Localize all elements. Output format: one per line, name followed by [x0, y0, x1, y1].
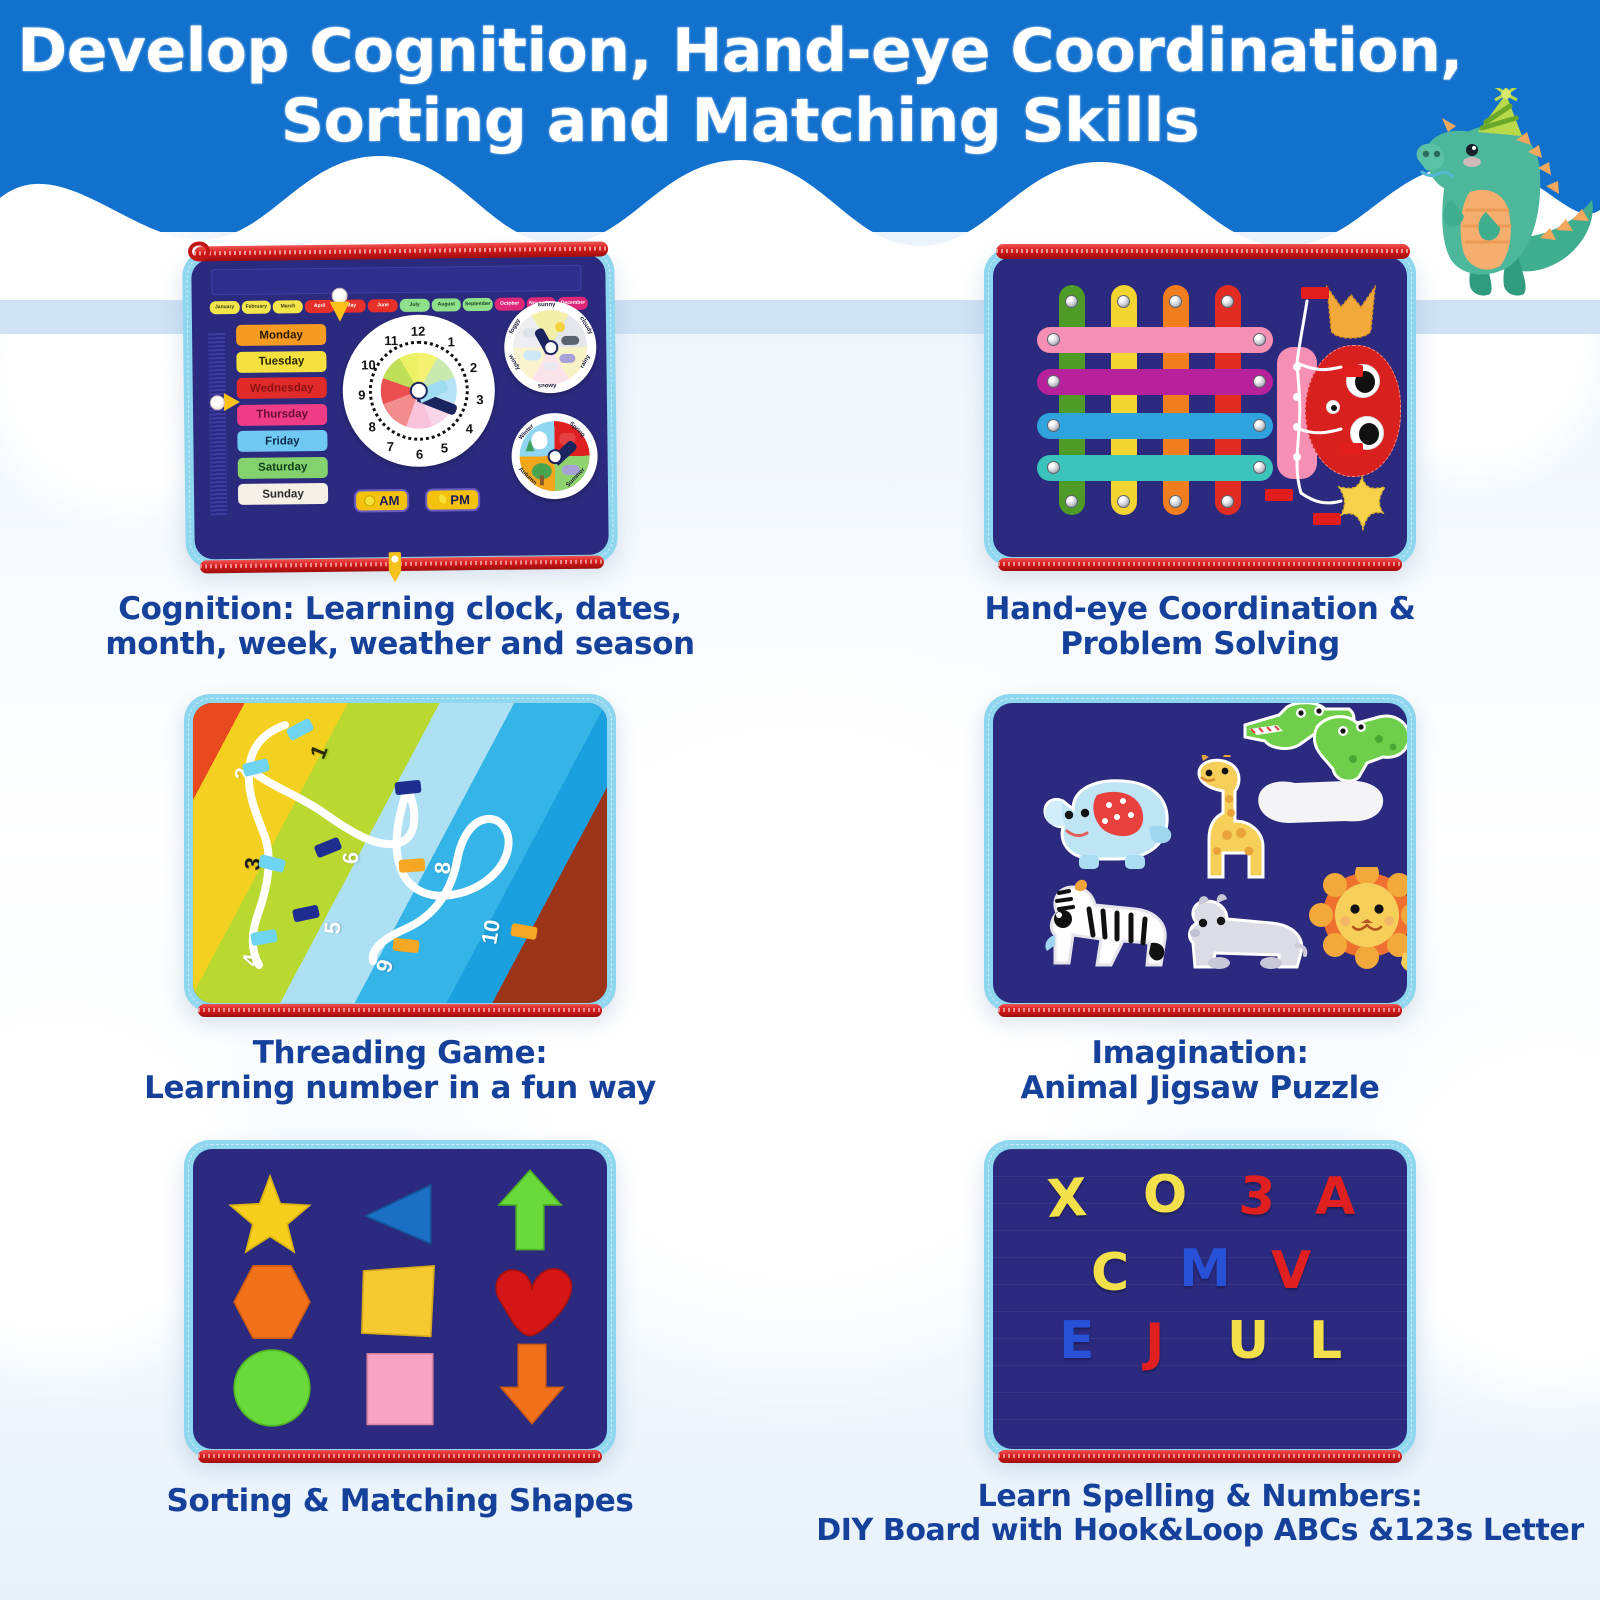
- horizontal-strap-blue[interactable]: [1037, 413, 1273, 439]
- shape-square[interactable]: [353, 1259, 443, 1345]
- board-surface: [993, 257, 1407, 557]
- letter-tile-o[interactable]: O: [1143, 1169, 1187, 1221]
- caption-line: Threading Game:: [0, 1036, 800, 1071]
- rivet[interactable]: [1221, 495, 1234, 508]
- cognition-board-photo: January February March April May June Ju…: [184, 248, 616, 566]
- month-chip[interactable]: February: [241, 301, 271, 314]
- letter-tile-e[interactable]: E: [1059, 1315, 1095, 1367]
- rivet[interactable]: [1047, 375, 1060, 388]
- season-dial[interactable]: Winter Spring Summer Autumn: [511, 413, 598, 500]
- zipper-bottom[interactable]: [198, 1004, 602, 1017]
- shape-rectangle[interactable]: [355, 1347, 445, 1433]
- caption-line: Learning number in a fun way: [0, 1071, 800, 1106]
- weather-dial[interactable]: sunny cloudy rainy snowy windy foggy: [504, 301, 597, 394]
- letter-char: V: [1271, 1241, 1311, 1301]
- am-button[interactable]: AM: [354, 489, 409, 513]
- board-surface: 1 2 3 4 5 6 8 9 10 7: [193, 703, 607, 1003]
- letter-char: U: [1227, 1311, 1269, 1371]
- rivet[interactable]: [1065, 295, 1078, 308]
- clock-number-label: 3: [476, 391, 483, 406]
- letter-tile-v[interactable]: V: [1271, 1245, 1311, 1297]
- moon-icon: [435, 494, 446, 505]
- shape-arrow-up[interactable]: [485, 1167, 575, 1253]
- felt-board: January February March April May June Ju…: [182, 245, 618, 568]
- letter-tile-m[interactable]: M: [1179, 1243, 1231, 1295]
- rivet[interactable]: [1169, 295, 1182, 308]
- clock-number-5[interactable]: 5: [433, 436, 455, 458]
- felt-board: [984, 694, 1416, 1012]
- month-label: April: [314, 304, 325, 309]
- horizontal-strap-teal[interactable]: [1037, 455, 1273, 481]
- felt-board: 1 2 3 4 5 6 8 9 10 7: [184, 694, 616, 1012]
- shape-heart[interactable]: [487, 1259, 577, 1345]
- letter-char: A: [1315, 1167, 1355, 1227]
- weekday-label: Thursday: [256, 408, 308, 421]
- board-surface: [993, 703, 1407, 1003]
- board-surface: [193, 1149, 607, 1449]
- letter-tile-l[interactable]: L: [1309, 1315, 1342, 1367]
- caption-line: Problem Solving: [800, 627, 1600, 662]
- month-label: March: [281, 304, 296, 309]
- clock-number-11[interactable]: 11: [380, 329, 402, 351]
- pencil-slider-icon[interactable]: [386, 552, 404, 582]
- weekday-label: Friday: [265, 435, 300, 447]
- felt-board: [184, 1140, 616, 1458]
- weekday-label: Saturday: [258, 461, 307, 474]
- page-title-line-1: Develop Cognition, Hand-eye Coordination…: [17, 16, 1462, 86]
- pm-button[interactable]: PM: [425, 488, 480, 512]
- zipper-bottom[interactable]: [998, 1004, 1402, 1017]
- month-chip[interactable]: July: [400, 299, 430, 312]
- animal-lion[interactable]: [1307, 867, 1407, 979]
- hand-eye-board-photo: [984, 248, 1416, 566]
- weekday-item-monday[interactable]: Monday: [236, 324, 326, 346]
- month-label: September: [465, 302, 491, 307]
- clock-number-2[interactable]: 2: [462, 356, 484, 378]
- weekday-item-sunday[interactable]: Sunday: [238, 483, 328, 505]
- clock-number-label: 1: [447, 334, 454, 349]
- panel-imagination: Imagination: Animal Jigsaw Puzzle: [800, 678, 1600, 1134]
- clock-number-1[interactable]: 1: [440, 330, 462, 352]
- letter-char: 3: [1237, 1166, 1277, 1228]
- clock-number-label: 11: [384, 333, 398, 348]
- letters-board-photo: X O 3 A C M V E J U L: [984, 1140, 1416, 1458]
- weekday-pointer-icon: [224, 393, 240, 411]
- month-chip[interactable]: October: [495, 297, 525, 310]
- rivet[interactable]: [1047, 419, 1060, 432]
- rivet[interactable]: [1065, 495, 1078, 508]
- panel-caption: Cognition: Learning clock, dates, month,…: [0, 592, 800, 662]
- weekday-item-friday[interactable]: Friday: [237, 430, 327, 452]
- weekday-item-saturday[interactable]: Saturday: [238, 456, 328, 478]
- sun-icon: [364, 495, 375, 506]
- clock-number-label: 5: [441, 440, 448, 455]
- board-surface: X O 3 A C M V E J U L: [993, 1149, 1407, 1449]
- month-label: January: [215, 305, 234, 310]
- panel-caption: Hand-eye Coordination & Problem Solving: [800, 592, 1600, 662]
- threading-board-photo: 1 2 3 4 5 6 8 9 10 7: [184, 694, 616, 1012]
- rivet[interactable]: [1047, 333, 1060, 346]
- animal-puzzle-board-photo: [984, 694, 1416, 1012]
- am-label: AM: [379, 493, 399, 508]
- page-title-line-2: Sorting and Matching Skills: [0, 86, 1480, 156]
- clock-number-label: 8: [369, 419, 376, 434]
- weather-segment-sunny: sunny: [538, 302, 556, 308]
- clock-number-12[interactable]: 12: [407, 320, 429, 342]
- learning-clock[interactable]: 12 1 2 3: [342, 314, 496, 468]
- horizontal-strap-purple[interactable]: [1037, 369, 1273, 395]
- animal-zebra[interactable]: [1039, 879, 1173, 975]
- weekday-label: Monday: [259, 329, 303, 342]
- month-chip[interactable]: September: [463, 298, 493, 311]
- clock-number-label: 6: [416, 446, 423, 461]
- clock-number-6[interactable]: 6: [408, 443, 430, 465]
- clock-number-label: 12: [411, 323, 426, 338]
- board-surface: January February March April May June Ju…: [191, 254, 609, 559]
- shape-arrow-down[interactable]: [487, 1341, 577, 1427]
- panel-shapes: Sorting & Matching Shapes: [0, 1124, 800, 1580]
- clock-number-label: 7: [387, 439, 394, 454]
- clock-number-8[interactable]: 8: [361, 415, 383, 437]
- weather-segment-snowy: snowy: [538, 383, 557, 389]
- month-chip[interactable]: January: [210, 301, 240, 314]
- caption-line: Animal Jigsaw Puzzle: [800, 1071, 1600, 1106]
- letter-tile-x[interactable]: X: [1046, 1172, 1089, 1226]
- zipper-bottom[interactable]: [198, 1450, 602, 1463]
- letter-char: L: [1309, 1311, 1342, 1371]
- panel-threading: 1 2 3 4 5 6 8 9 10 7 Threading Game: Lea…: [0, 678, 800, 1134]
- zipper-bottom[interactable]: [998, 1450, 1402, 1463]
- letter-char: C: [1091, 1243, 1129, 1303]
- letter-char: M: [1179, 1239, 1231, 1299]
- shape-star[interactable]: [225, 1171, 315, 1257]
- month-chip[interactable]: March: [273, 300, 303, 313]
- zipper-bottom[interactable]: [998, 558, 1402, 571]
- clock-number-10[interactable]: 10: [357, 353, 379, 375]
- letter-tile-j[interactable]: J: [1145, 1317, 1164, 1369]
- rivet[interactable]: [1117, 495, 1130, 508]
- clock-number-3[interactable]: 3: [469, 386, 491, 408]
- letter-char: J: [1145, 1313, 1164, 1373]
- weekday-slider-knob[interactable]: [210, 395, 225, 410]
- panel-caption: Sorting & Matching Shapes: [0, 1484, 800, 1519]
- panel-cognition: January February March April May June Ju…: [0, 232, 800, 688]
- season-dial-cap: [548, 449, 563, 464]
- animal-elephant[interactable]: [1039, 771, 1179, 869]
- ampm-toggle-group: AM PM: [354, 488, 480, 513]
- weather-label: snowy: [538, 383, 557, 389]
- animal-hippo[interactable]: [1179, 889, 1309, 975]
- caption-line: month, week, weather and season: [0, 627, 800, 662]
- month-label: August: [438, 302, 455, 307]
- rivet[interactable]: [1169, 495, 1182, 508]
- bead-orange[interactable]: [392, 938, 419, 954]
- animal-giraffe[interactable]: [1183, 755, 1283, 885]
- felt-board: [984, 248, 1416, 566]
- clock-number-label: 2: [470, 360, 477, 375]
- month-chip[interactable]: June: [368, 299, 398, 312]
- letter-char: O: [1143, 1165, 1187, 1225]
- weekday-slider-track[interactable]: [208, 331, 227, 516]
- letter-tile-u[interactable]: U: [1227, 1315, 1269, 1367]
- shape-circle[interactable]: [227, 1345, 317, 1431]
- letter-char: X: [1045, 1168, 1088, 1230]
- rivet[interactable]: [1047, 461, 1060, 474]
- weather-label: sunny: [538, 302, 556, 308]
- shape-triangle[interactable]: [353, 1173, 443, 1259]
- panel-caption: Learn Spelling & Numbers: DIY Board with…: [800, 1480, 1600, 1548]
- month-chip[interactable]: August: [431, 298, 461, 311]
- rivet[interactable]: [1117, 295, 1130, 308]
- clock-center-cap: [410, 382, 428, 400]
- month-pointer-icon[interactable]: [330, 288, 350, 322]
- weekday-list: Monday Tuesday Wednesday Thursday Friday…: [236, 324, 328, 511]
- clock-number-label: 4: [466, 421, 473, 436]
- horizontal-strap-pink[interactable]: [1037, 327, 1273, 353]
- shape-hexagon[interactable]: [227, 1259, 317, 1345]
- month-label: February: [246, 305, 267, 310]
- caption-line: Hand-eye Coordination &: [800, 592, 1600, 627]
- month-label: October: [500, 302, 519, 307]
- letter-tile-c[interactable]: C: [1091, 1247, 1129, 1299]
- clock-number-label: 9: [358, 387, 365, 402]
- weekday-label: Sunday: [262, 488, 304, 501]
- clock-number-4[interactable]: 4: [458, 417, 480, 439]
- top-pocket: [211, 265, 581, 296]
- bead-navy[interactable]: [394, 780, 421, 796]
- pm-label: PM: [450, 492, 470, 507]
- feature-grid: January February March April May June Ju…: [0, 232, 1600, 1600]
- letter-tile-3[interactable]: 3: [1237, 1170, 1277, 1224]
- clock-number-7[interactable]: 7: [379, 435, 401, 457]
- shapes-board-photo: [184, 1140, 616, 1458]
- month-label: June: [377, 303, 389, 308]
- rivet[interactable]: [1221, 295, 1234, 308]
- weekday-item-tuesday[interactable]: Tuesday: [236, 350, 326, 372]
- clock-number-9[interactable]: 9: [351, 383, 373, 405]
- caption-line: DIY Board with Hook&Loop ABCs &123s Lett…: [800, 1514, 1600, 1548]
- caption-line: Learn Spelling & Numbers:: [800, 1480, 1600, 1514]
- caption-line: Imagination:: [800, 1036, 1600, 1071]
- bead-orange[interactable]: [399, 858, 426, 873]
- panel-hand-eye: Hand-eye Coordination & Problem Solving: [800, 232, 1600, 688]
- weekday-item-wednesday[interactable]: Wednesday: [237, 377, 327, 399]
- letter-char: E: [1059, 1311, 1095, 1371]
- clock-number-label: 10: [361, 357, 376, 372]
- zipper-top[interactable]: [996, 244, 1410, 259]
- panel-caption: Threading Game: Learning number in a fun…: [0, 1036, 800, 1106]
- month-label: July: [410, 303, 420, 308]
- weather-dial-cap: [543, 340, 558, 355]
- lacing-cords[interactable]: [1263, 287, 1407, 537]
- letter-tile-a[interactable]: A: [1315, 1171, 1355, 1223]
- panel-spelling: X O 3 A C M V E J U L Learn Spelling & N…: [800, 1124, 1600, 1580]
- panel-caption: Imagination: Animal Jigsaw Puzzle: [800, 1036, 1600, 1106]
- page-title: Develop Cognition, Hand-eye Coordination…: [0, 16, 1480, 156]
- caption-line: Sorting & Matching Shapes: [0, 1484, 800, 1519]
- weekday-label: Tuesday: [258, 355, 304, 368]
- threading-cords[interactable]: [193, 703, 607, 1003]
- weekday-item-thursday[interactable]: Thursday: [237, 403, 327, 425]
- caption-line: Cognition: Learning clock, dates,: [0, 592, 800, 627]
- weekday-label: Wednesday: [250, 382, 314, 395]
- felt-board: X O 3 A C M V E J U L: [984, 1140, 1416, 1458]
